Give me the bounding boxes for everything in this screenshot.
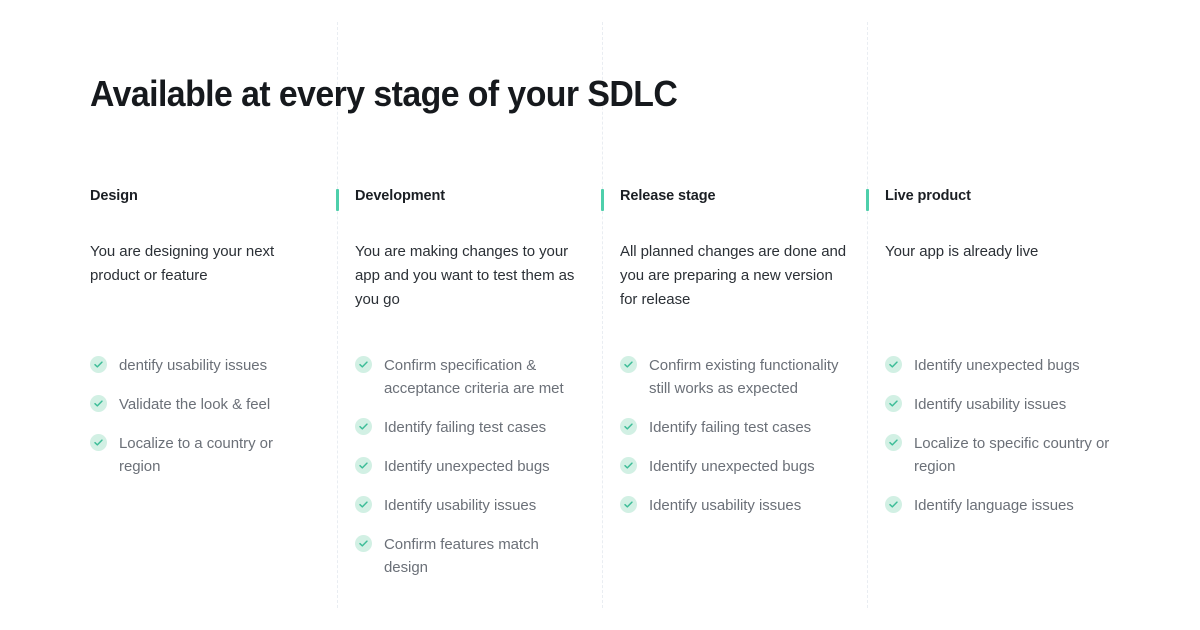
stage-checklist: Confirm specification & acceptance crite… [355,354,576,579]
list-item: Identify usability issues [885,393,1120,416]
stage-column-live-product: Live product Your app is already live Id… [867,186,1132,312]
check-circle-icon [355,535,372,552]
check-circle-icon [885,356,902,373]
stage-description: You are making changes to your app and y… [355,240,587,312]
list-item-label: Validate the look & feel [119,393,270,416]
stage-column-design: Design You are designing your next produ… [90,186,337,312]
stage-checklist: Confirm existing functionality still wor… [620,354,841,517]
stage-columns: Design You are designing your next produ… [0,186,1200,312]
list-item: Identify usability issues [355,494,576,517]
stage-column-release-stage: Release stage All planned changes are do… [602,186,867,312]
list-item: Localize to a country or region [90,432,315,478]
list-item-label: Identify usability issues [914,393,1066,416]
list-item: Identify language issues [885,494,1120,517]
stage-description: All planned changes are done and you are… [620,240,852,312]
list-item-label: Identify unexpected bugs [649,455,815,478]
list-item: Identify unexpected bugs [620,455,841,478]
list-item-label: Confirm existing functionality still wor… [649,354,841,400]
check-circle-icon [355,457,372,474]
stage-description: Your app is already live [885,240,1117,264]
stage-heading: Design [90,186,337,206]
list-item-label: dentify usability issues [119,354,267,377]
stage-checklist: dentify usability issues Validate the lo… [90,354,315,478]
check-circle-icon [355,356,372,373]
list-item-label: Identify failing test cases [384,416,546,439]
slide-root: Available at every stage of your SDLC De… [0,0,1200,630]
list-item: Confirm features match design [355,533,576,579]
list-item: Identify failing test cases [620,416,841,439]
page-title: Available at every stage of your SDLC [90,72,677,116]
check-circle-icon [90,434,107,451]
check-circle-icon [885,434,902,451]
check-circle-icon [620,418,637,435]
stage-description: You are designing your next product or f… [90,240,298,288]
list-item-label: Identify usability issues [384,494,536,517]
list-item-label: Localize to specific country or region [914,432,1120,478]
list-item-label: Identify usability issues [649,494,801,517]
list-item-label: Identify failing test cases [649,416,811,439]
list-item-label: Identify unexpected bugs [914,354,1080,377]
list-item: Validate the look & feel [90,393,315,416]
list-item-label: Confirm features match design [384,533,576,579]
stage-column-development: Development You are making changes to yo… [337,186,602,312]
check-circle-icon [355,418,372,435]
list-item: Confirm existing functionality still wor… [620,354,841,400]
list-item: Localize to specific country or region [885,432,1120,478]
list-item: Confirm specification & acceptance crite… [355,354,576,400]
check-circle-icon [90,395,107,412]
stage-heading: Release stage [620,186,867,206]
check-circle-icon [620,457,637,474]
check-circle-icon [355,496,372,513]
list-item: Identify failing test cases [355,416,576,439]
check-circle-icon [885,496,902,513]
stage-heading: Live product [885,186,1132,206]
list-item: Identify unexpected bugs [355,455,576,478]
stage-checklist: Identify unexpected bugs Identify usabil… [885,354,1120,517]
list-item: Identify usability issues [620,494,841,517]
list-item-label: Identify unexpected bugs [384,455,550,478]
check-circle-icon [620,496,637,513]
check-circle-icon [885,395,902,412]
list-item-label: Confirm specification & acceptance crite… [384,354,576,400]
list-item: dentify usability issues [90,354,315,377]
list-item: Identify unexpected bugs [885,354,1120,377]
list-item-label: Identify language issues [914,494,1074,517]
list-item-label: Localize to a country or region [119,432,315,478]
stage-heading: Development [355,186,602,206]
column-divider-3 [867,22,868,608]
check-circle-icon [620,356,637,373]
check-circle-icon [90,356,107,373]
